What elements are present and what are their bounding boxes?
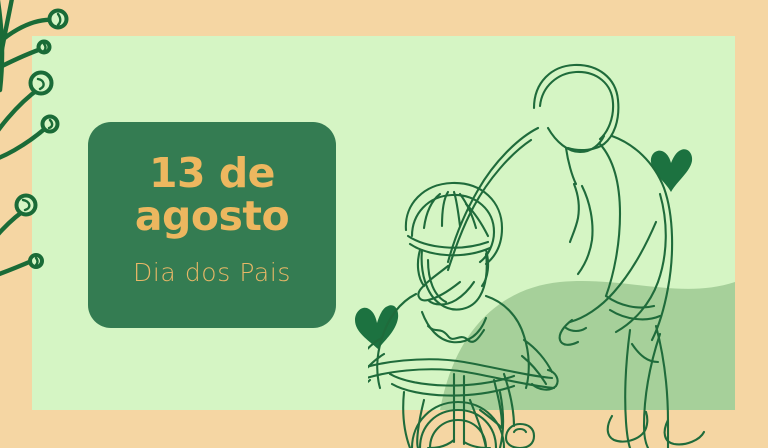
card-subtitle: Dia dos Pais — [133, 258, 291, 287]
poster-canvas: 13 de agosto Dia dos Pais — [0, 0, 768, 448]
date-line-1: 13 de — [149, 153, 275, 194]
date-card: 13 de agosto Dia dos Pais — [88, 122, 336, 328]
date-line-2: agosto — [135, 196, 289, 237]
